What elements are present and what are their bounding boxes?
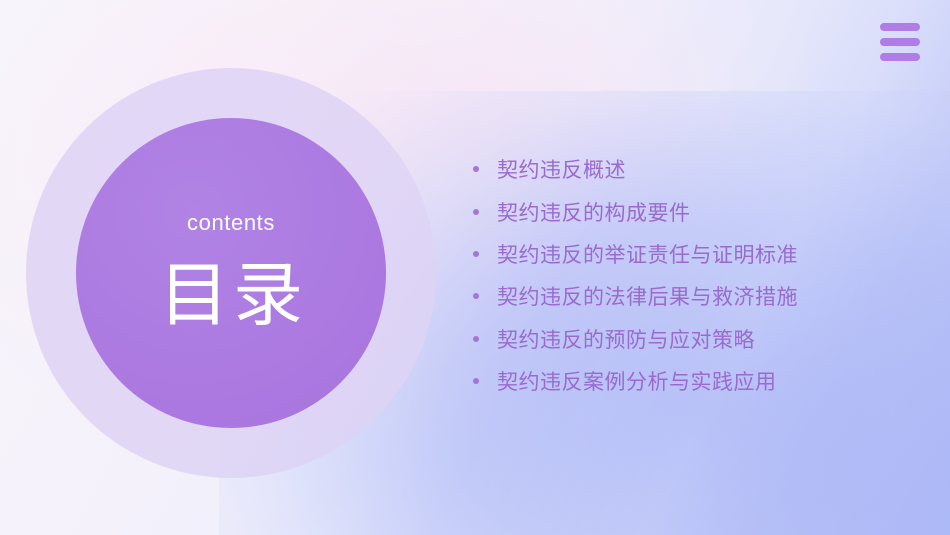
- toc-item-label: 契约违反概述: [497, 154, 626, 184]
- contents-title: 目录: [159, 260, 307, 330]
- hamburger-bar-top: [880, 23, 920, 31]
- toc-item-4[interactable]: 契约违反的法律后果与救济措施: [470, 275, 900, 317]
- presentation-slide: contents 目录 契约违反概述 契约违反的构成要件 契约违反的举证责任与证…: [0, 0, 950, 535]
- toc-item-6[interactable]: 契约违反案例分析与实践应用: [470, 360, 900, 402]
- toc-item-label: 契约违反的举证责任与证明标准: [497, 239, 798, 269]
- toc-item-2[interactable]: 契约违反的构成要件: [470, 190, 900, 232]
- bullet-dot-icon: [473, 209, 479, 215]
- contents-circle: contents 目录: [76, 118, 386, 428]
- toc-item-1[interactable]: 契约违反概述: [470, 148, 900, 190]
- toc-item-label: 契约违反的构成要件: [497, 197, 691, 227]
- bullet-dot-icon: [473, 251, 479, 257]
- toc-item-5[interactable]: 契约违反的预防与应对策略: [470, 318, 900, 360]
- table-of-contents-list: 契约违反概述 契约违反的构成要件 契约违反的举证责任与证明标准 契约违反的法律后…: [470, 148, 900, 402]
- toc-item-label: 契约违反案例分析与实践应用: [497, 366, 777, 396]
- hamburger-menu-icon[interactable]: [876, 18, 924, 66]
- bullet-dot-icon: [473, 336, 479, 342]
- bullet-dot-icon: [473, 293, 479, 299]
- hamburger-bar-middle: [880, 38, 920, 46]
- bullet-dot-icon: [473, 378, 479, 384]
- toc-item-label: 契约违反的预防与应对策略: [497, 324, 755, 354]
- toc-item-3[interactable]: 契约违反的举证责任与证明标准: [470, 233, 900, 275]
- hamburger-bar-bottom: [880, 53, 920, 61]
- toc-item-label: 契约违反的法律后果与救济措施: [497, 281, 798, 311]
- contents-subtitle: contents: [187, 212, 275, 234]
- bullet-dot-icon: [473, 166, 479, 172]
